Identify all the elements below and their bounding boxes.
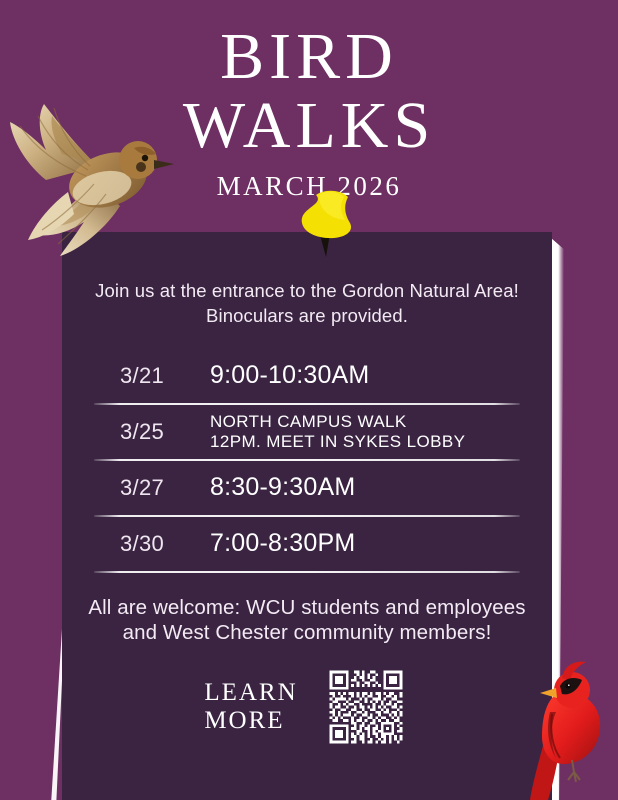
schedule-list: 3/21 9:00-10:30AM 3/25 NORTH CAMPUS WALK… — [88, 349, 526, 573]
schedule-row: 3/27 8:30-9:30AM — [88, 461, 526, 515]
red-cardinal-icon — [516, 660, 612, 800]
yellow-pushpin-icon — [296, 185, 362, 257]
schedule-detail: NORTH CAMPUS WALK 12PM. MEET IN SYKES LO… — [196, 412, 526, 450]
schedule-row: 3/30 7:00-8:30PM — [88, 517, 526, 571]
poster: BIRD WALKS MARCH 2026 Join us at the ent… — [0, 0, 618, 800]
schedule-date: 3/21 — [88, 363, 196, 389]
learn-more-label: LEARN MORE — [204, 679, 297, 735]
content-card: Join us at the entrance to the Gordon Na… — [62, 232, 552, 800]
learn-more-block[interactable]: LEARN MORE — [88, 668, 526, 746]
schedule-date: 3/30 — [88, 531, 196, 557]
schedule-row: 3/21 9:00-10:30AM — [88, 349, 526, 403]
content-card-inner: Join us at the entrance to the Gordon Na… — [62, 232, 552, 800]
schedule-date: 3/27 — [88, 475, 196, 501]
schedule-date: 3/25 — [88, 419, 196, 445]
schedule-row: 3/25 NORTH CAMPUS WALK 12PM. MEET IN SYK… — [88, 405, 526, 459]
schedule-divider — [94, 571, 520, 573]
schedule-detail: 9:00-10:30AM — [196, 361, 526, 390]
poster-header: BIRD WALKS MARCH 2026 — [0, 0, 618, 202]
poster-title-line-1: BIRD — [0, 24, 618, 89]
closing-text: All are welcome: WCU students and employ… — [88, 595, 526, 646]
schedule-detail: 7:00-8:30PM — [196, 529, 526, 558]
poster-title-line-2: WALKS — [0, 93, 618, 158]
qr-code[interactable] — [322, 668, 410, 746]
schedule-detail: 8:30-9:30AM — [196, 473, 526, 502]
